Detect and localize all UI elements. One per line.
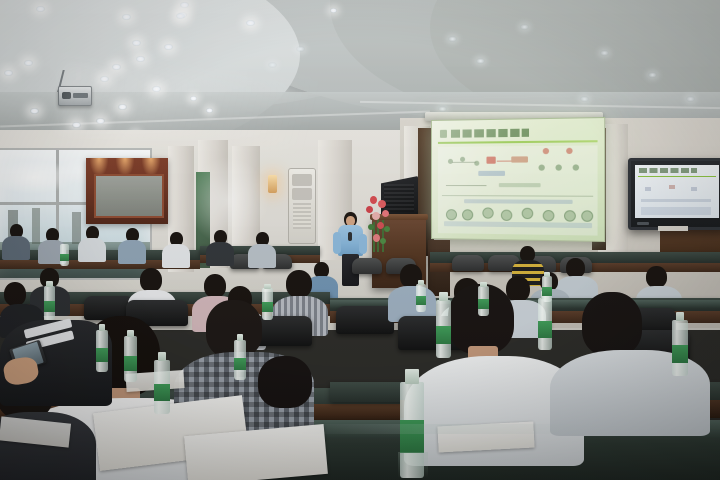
downlight	[246, 20, 255, 26]
chair	[336, 306, 394, 334]
slide-icon	[462, 209, 473, 220]
bottle-label	[538, 321, 552, 338]
water-bottle[interactable]	[96, 330, 108, 372]
downlight	[180, 2, 189, 8]
bottle-cap	[46, 281, 52, 286]
presenter-arm-left	[333, 232, 341, 254]
water-bottle[interactable]	[124, 336, 137, 382]
bottle-label	[478, 299, 489, 309]
ac-vent	[292, 174, 312, 186]
bottle-cap	[99, 324, 106, 331]
downlight	[600, 50, 609, 56]
slide-icon	[446, 209, 457, 220]
water-bottle[interactable]	[538, 298, 552, 350]
slide-label-bar	[464, 199, 573, 204]
slide-node	[566, 148, 572, 154]
monitor-mount	[658, 226, 688, 231]
ac-grill	[293, 203, 311, 229]
chair	[452, 255, 484, 271]
downlight	[4, 70, 13, 76]
downlight	[448, 36, 457, 42]
bottle-cap	[544, 272, 550, 276]
bottle-cap	[480, 282, 486, 287]
ceiling-projector	[58, 62, 92, 106]
presenter-arm-right	[359, 234, 367, 254]
slide-label-bar	[478, 171, 505, 176]
downlight	[164, 44, 173, 50]
flower	[366, 206, 373, 213]
slide-body	[438, 145, 598, 235]
downlight	[176, 13, 185, 19]
person-torso	[78, 238, 106, 262]
slide-connector	[497, 161, 511, 162]
bottle-label	[542, 287, 552, 295]
water-bottle[interactable]	[416, 284, 426, 312]
downlight	[520, 24, 529, 30]
bottle-cap	[405, 369, 418, 384]
slide-icon	[543, 210, 555, 221]
slide-node	[573, 164, 579, 170]
monitor-brand-logo	[637, 222, 649, 225]
person-head	[140, 268, 162, 292]
wall-sconce-light	[268, 175, 277, 193]
person-head	[4, 282, 26, 306]
person-head	[258, 356, 312, 408]
person-head	[506, 276, 530, 302]
bottle-label	[96, 348, 108, 361]
bottle-label	[124, 356, 137, 371]
bottle-label	[60, 254, 69, 261]
projection-screen[interactable]	[431, 117, 605, 242]
monitor-slide-node	[669, 185, 675, 189]
water-bottle[interactable]	[262, 288, 273, 320]
slide-icon	[581, 210, 593, 222]
person-head	[582, 292, 642, 356]
bottle-cap	[158, 352, 167, 361]
bottle-cap	[676, 312, 685, 321]
downlight	[296, 46, 305, 52]
microphone	[348, 232, 352, 241]
downlight	[118, 104, 127, 110]
bottle-cap	[127, 330, 134, 337]
bottle-label	[436, 326, 451, 345]
slide-divider	[442, 195, 593, 197]
slide-title-underline	[438, 140, 598, 144]
slide-icon	[501, 210, 512, 221]
slide-connector	[452, 162, 476, 163]
person-head	[646, 266, 667, 288]
bottle-label	[672, 345, 688, 363]
wall-light-wash	[188, 158, 268, 244]
slide-icon	[482, 207, 493, 218]
window-post	[32, 208, 40, 244]
downlight	[190, 96, 197, 101]
person-torso	[162, 244, 190, 268]
downlight	[136, 56, 145, 62]
water-bottle[interactable]	[44, 286, 55, 320]
downlight	[476, 58, 485, 64]
bottle-label	[234, 358, 246, 371]
bottle-label	[262, 302, 273, 312]
slide-footer-bar	[444, 221, 592, 228]
water-bottle[interactable]	[234, 340, 246, 380]
wall-monitor[interactable]	[628, 158, 720, 230]
slide-highlight-chip	[486, 157, 495, 164]
bottle-cap	[418, 280, 424, 284]
bottle-cap	[264, 284, 270, 289]
downlight	[330, 8, 337, 13]
downlight	[24, 60, 33, 66]
flower-leaf	[384, 226, 390, 232]
downlight	[132, 40, 141, 46]
window-post	[72, 212, 81, 244]
bottle-label	[44, 301, 55, 312]
downlight	[152, 86, 161, 92]
downlight	[100, 76, 109, 82]
bottle-cap	[237, 334, 244, 340]
monitor-screen	[635, 165, 719, 218]
air-conditioner-unit	[288, 168, 316, 244]
bottle-label	[416, 296, 426, 305]
person-head	[286, 270, 312, 298]
flower	[373, 234, 380, 242]
slide-title-row	[440, 127, 593, 140]
monitor-slide-bar	[641, 207, 711, 215]
slide-title-text	[451, 129, 529, 138]
flower-leaf	[368, 224, 374, 230]
downlight	[206, 108, 213, 113]
water-bottle[interactable]	[154, 360, 170, 414]
monitor-slide-bar	[641, 199, 711, 202]
flower	[377, 222, 384, 229]
wall-panel-display	[94, 174, 164, 218]
monitor-slide-underline	[638, 176, 716, 177]
flower-leaf	[380, 238, 386, 244]
monitor-slide-node	[691, 187, 697, 191]
slide-node	[543, 148, 549, 154]
slide-label-bar	[499, 183, 541, 187]
person-head	[566, 258, 585, 278]
downlight	[580, 96, 589, 102]
monitor-slide-title	[639, 168, 697, 173]
bottle-label	[154, 384, 170, 401]
water-bottle[interactable]	[436, 300, 451, 358]
slide-section-number	[440, 130, 447, 138]
projector-lens-icon	[62, 92, 71, 99]
flower	[372, 212, 380, 220]
slide-node	[538, 165, 544, 171]
water-bottle[interactable]	[542, 276, 552, 302]
slide-rule	[446, 185, 487, 186]
conference-hall-photo	[0, 0, 720, 480]
downlight	[96, 118, 105, 124]
bottle-cap	[439, 292, 447, 301]
downlight	[72, 122, 81, 128]
downlight	[30, 108, 39, 114]
wall-wood-panel	[86, 158, 168, 224]
slide-chip	[511, 156, 528, 162]
downlight	[648, 72, 657, 78]
projector-body	[58, 86, 92, 106]
person-torso	[2, 236, 30, 260]
floral-arrangement	[364, 196, 392, 256]
slide-icon	[564, 210, 576, 222]
flower	[378, 200, 386, 208]
person-torso	[206, 242, 234, 266]
flower	[370, 196, 377, 204]
slide-icon	[522, 208, 534, 219]
bottle-reflection	[398, 452, 428, 478]
ac-vent	[292, 188, 312, 200]
person-torso	[118, 240, 146, 264]
chair	[352, 258, 382, 274]
monitor-slide-node	[645, 187, 651, 191]
projector-badge	[73, 93, 88, 98]
water-bottle[interactable]	[478, 286, 489, 316]
downlight	[686, 96, 695, 102]
downlight	[112, 64, 121, 70]
downlight	[36, 6, 45, 12]
person-torso	[248, 244, 276, 268]
person-head	[204, 274, 226, 298]
water-bottle[interactable]	[60, 244, 69, 266]
slide-node	[555, 164, 561, 170]
desk-reflection	[300, 424, 600, 434]
downlight	[268, 62, 277, 68]
flower	[382, 210, 389, 217]
water-bottle[interactable]	[672, 320, 688, 376]
downlight	[122, 14, 131, 20]
